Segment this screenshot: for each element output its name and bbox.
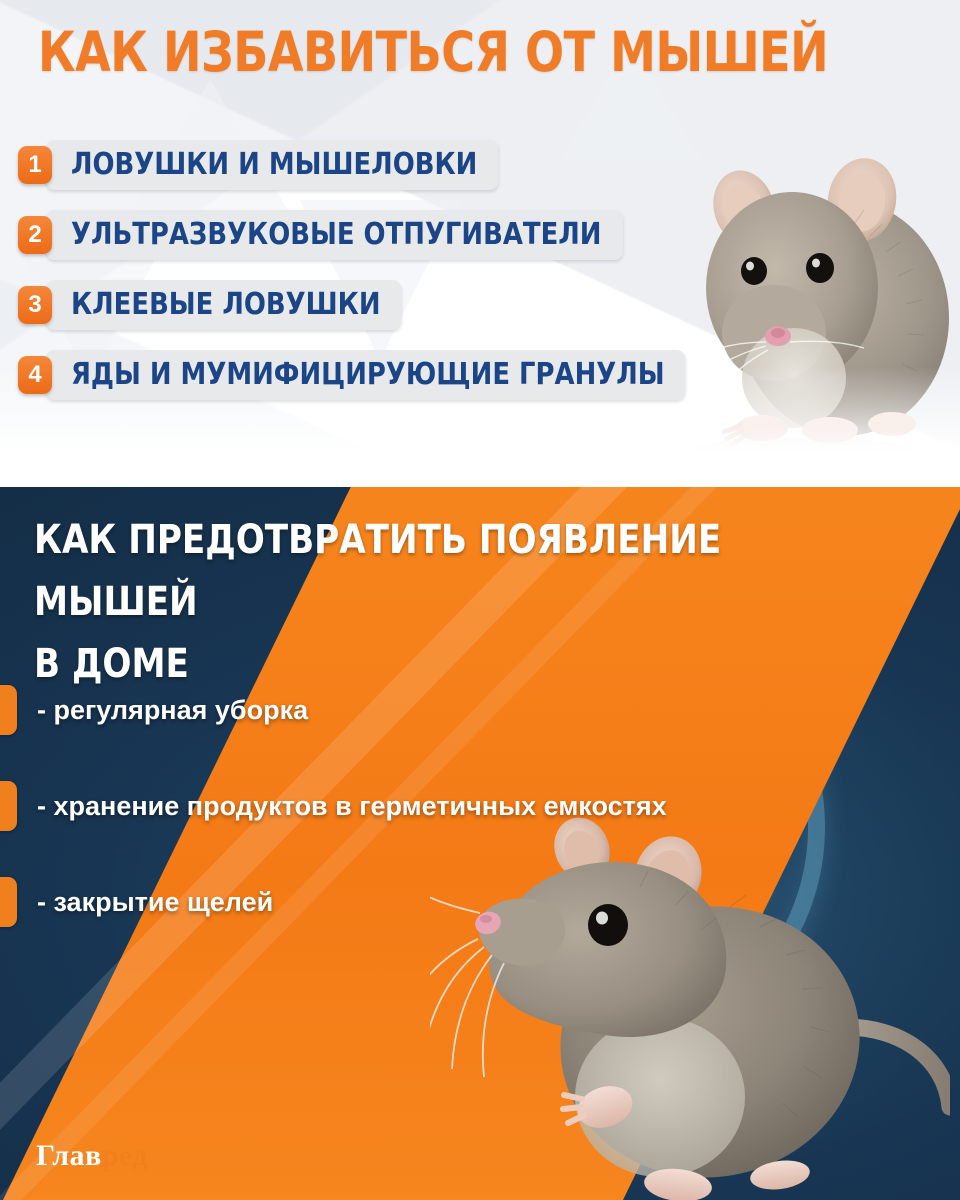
brand-logo[interactable]: Главред	[36, 1140, 148, 1172]
item-label: ЛОВУШКИ И МЫШЕЛОВКИ	[46, 140, 498, 190]
item-label: КЛЕЕВЫЕ ЛОВУШКИ	[46, 280, 402, 330]
logo-part-primary: Глав	[36, 1139, 102, 1172]
bullet-label: - закрытие щелей	[37, 886, 273, 918]
bullet-label: - хранение продуктов в герметичных емкос…	[37, 790, 667, 822]
list-item[interactable]: 3 КЛЕЕВЫЕ ЛОВУШКИ	[18, 280, 416, 330]
item-label: ЯДЫ И МУМИФИЦИРУЮЩИЕ ГРАНУЛЫ	[46, 350, 686, 400]
infographic-poster: КАК ИЗБАВИТЬСЯ ОТ МЫШЕЙ 1 ЛОВУШКИ И МЫШЕ…	[0, 0, 960, 1200]
bullet-tab-icon	[0, 781, 17, 831]
bullet-tab-icon	[0, 877, 17, 927]
prevention-list: - регулярная уборка - хранение продуктов…	[0, 662, 900, 950]
item-number-badge: 3	[18, 286, 52, 324]
item-number-badge: 1	[18, 146, 52, 184]
prevention-section: КАК ПРЕДОТВРАТИТЬ ПОЯВЛЕНИЕ МЫШЕЙ В ДОМЕ…	[0, 487, 960, 1200]
methods-list: 1 ЛОВУШКИ И МЫШЕЛОВКИ 2 УЛЬТРАЗВУКОВЫЕ О…	[18, 140, 778, 420]
item-number-badge: 2	[18, 216, 52, 254]
heading-line-1: КАК ПРЕДОТВРАТИТЬ ПОЯВЛЕНИЕ МЫШЕЙ	[34, 509, 880, 633]
item-number-badge: 4	[18, 356, 52, 394]
bullet-tab-icon	[0, 685, 17, 735]
bullet-label: - регулярная уборка	[37, 694, 308, 726]
methods-section: КАК ИЗБАВИТЬСЯ ОТ МЫШЕЙ 1 ЛОВУШКИ И МЫШЕ…	[0, 0, 960, 487]
list-item[interactable]: - регулярная уборка	[0, 662, 900, 758]
list-item[interactable]: 1 ЛОВУШКИ И МЫШЕЛОВКИ	[18, 140, 517, 190]
list-item[interactable]: 2 УЛЬТРАЗВУКОВЫЕ ОТПУГИВАТЕЛИ	[18, 210, 647, 260]
list-item[interactable]: - закрытие щелей	[0, 854, 900, 950]
logo-part-accent: ред	[102, 1139, 148, 1172]
list-item[interactable]: 4 ЯДЫ И МУМИФИЦИРУЮЩИЕ ГРАНУЛЫ	[18, 350, 712, 400]
list-item[interactable]: - хранение продуктов в герметичных емкос…	[0, 758, 900, 854]
item-label: УЛЬТРАЗВУКОВЫЕ ОТПУГИВАТЕЛИ	[46, 210, 623, 260]
page-title: КАК ИЗБАВИТЬСЯ ОТ МЫШЕЙ	[38, 22, 828, 82]
